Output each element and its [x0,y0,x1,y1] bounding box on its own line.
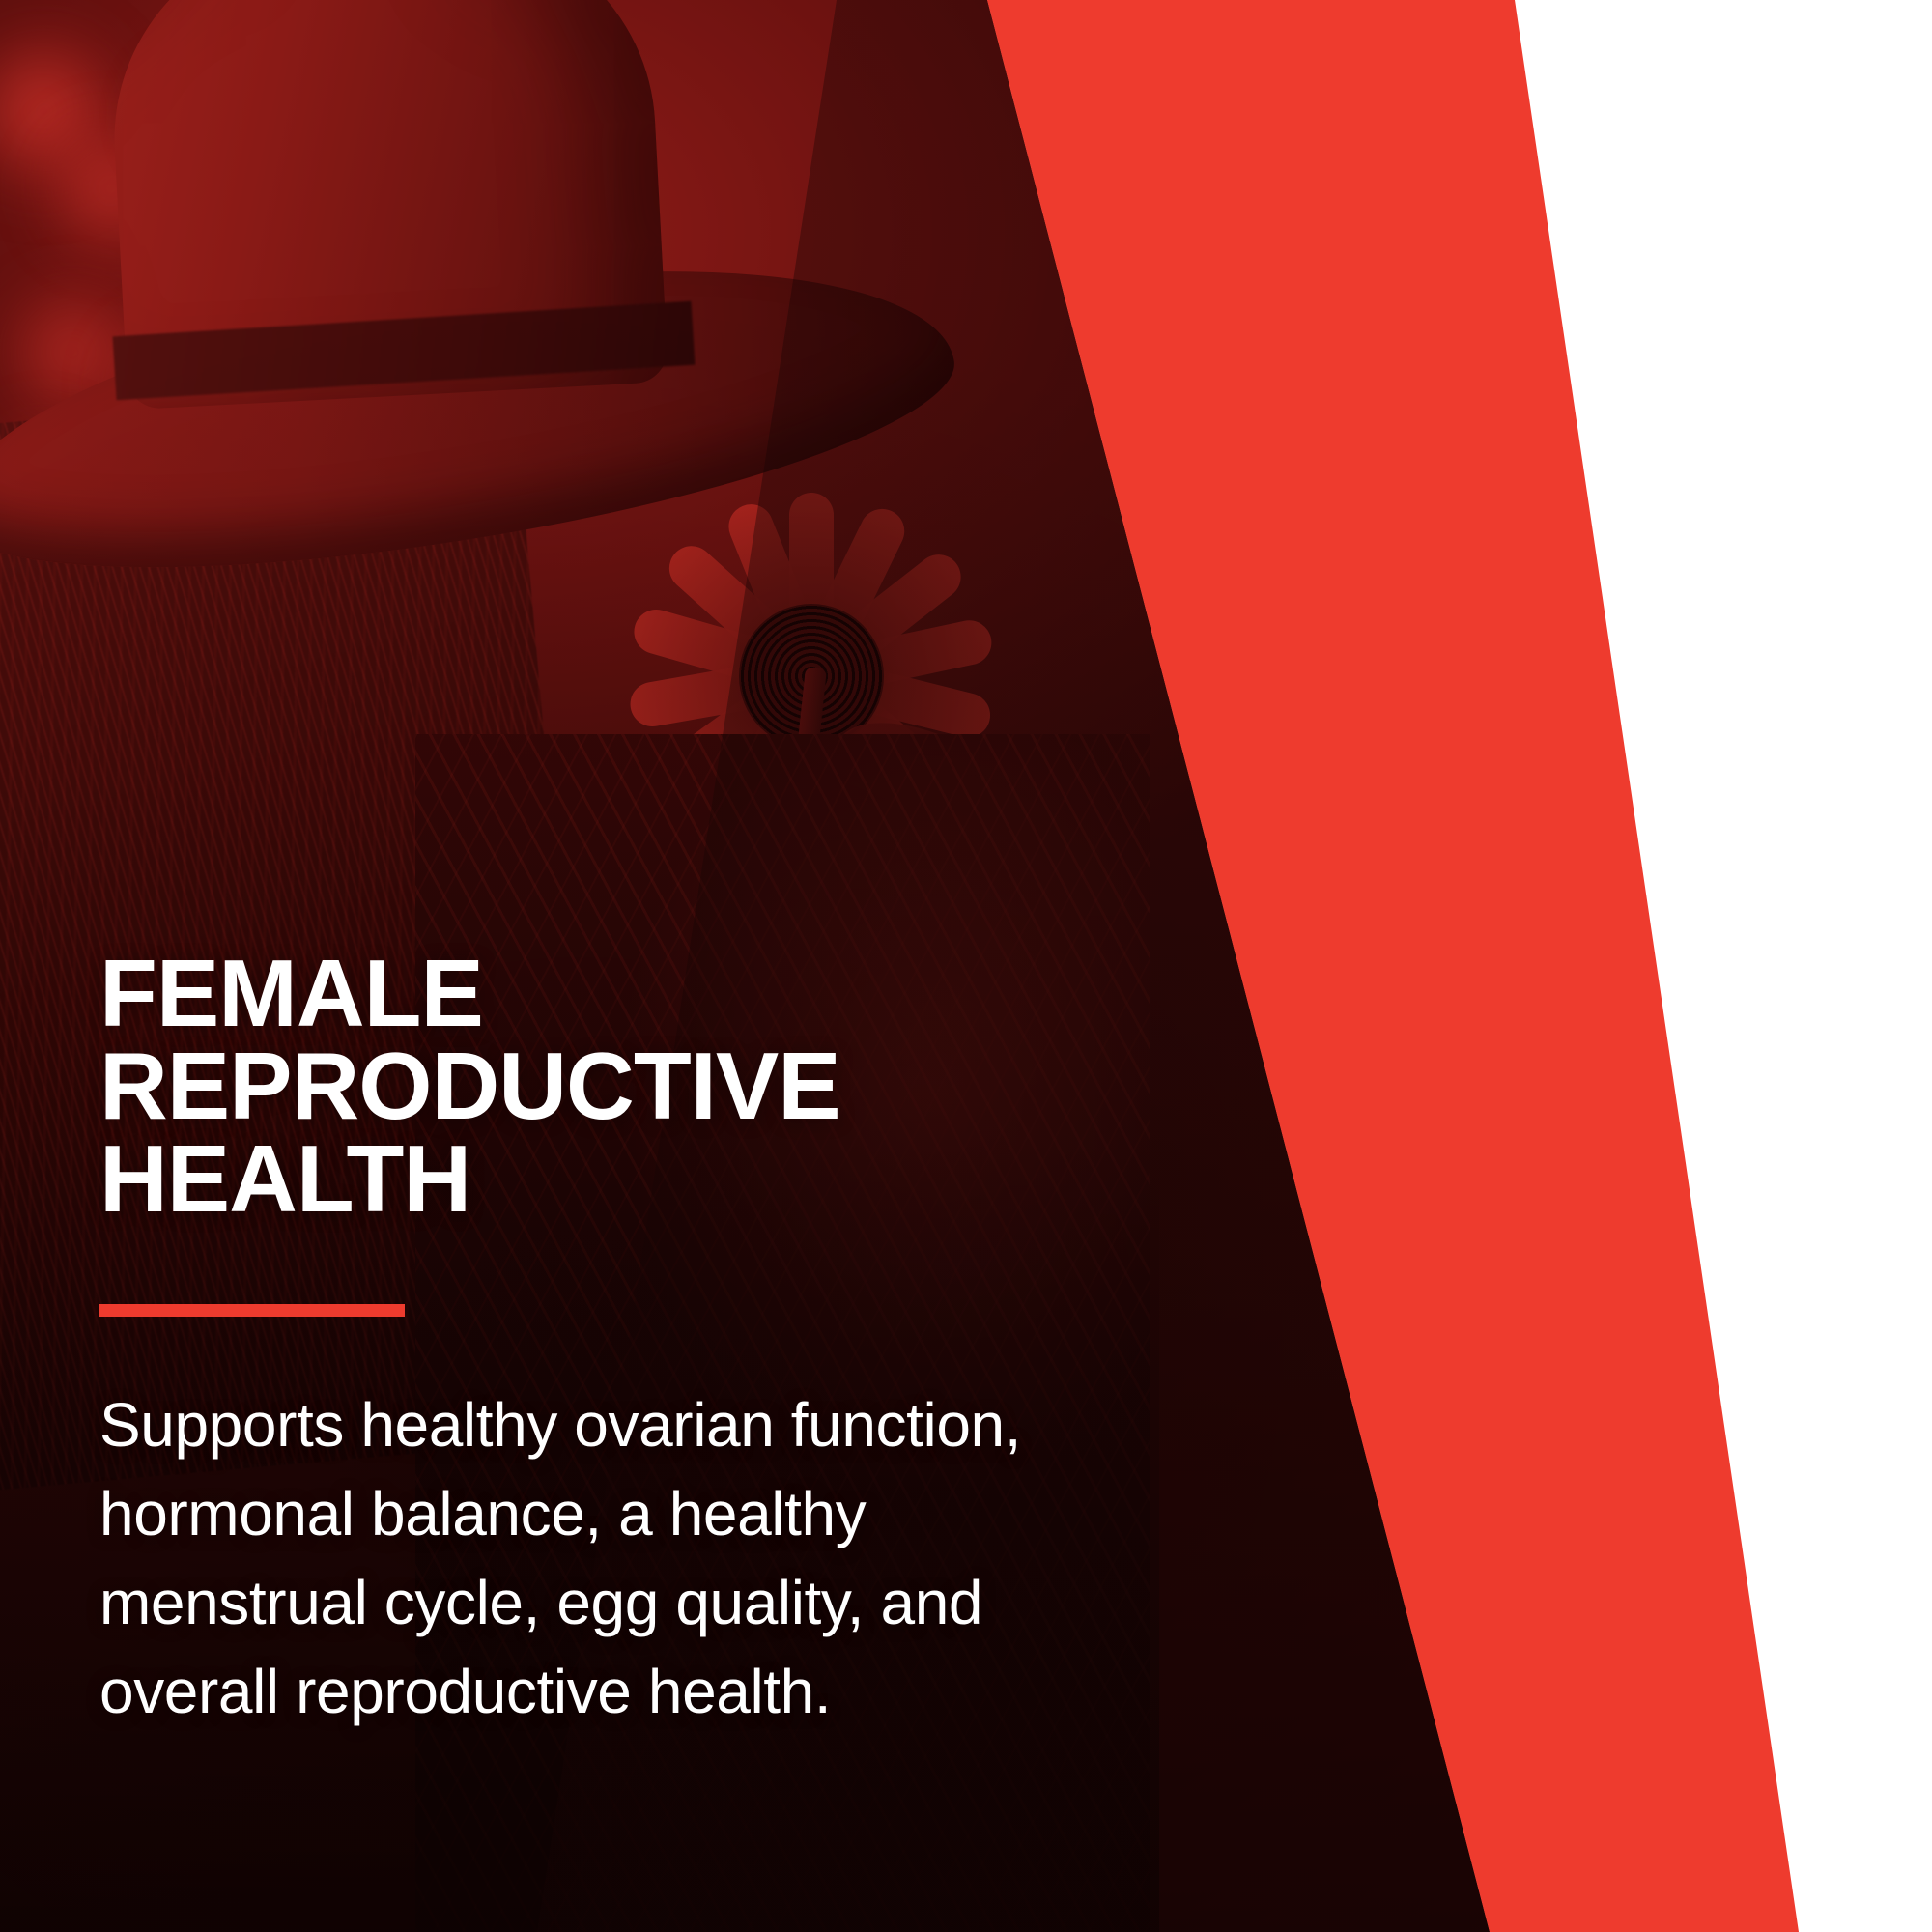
text-content-block: FEMALE REPRODUCTIVE HEALTH Supports heal… [99,947,1123,1736]
title-divider-rule [99,1304,405,1317]
benefit-description: Supports healthy ovarian function, hormo… [99,1380,1094,1736]
product-benefit-banner: FEMALE REPRODUCTIVE HEALTH Supports heal… [0,0,1932,1932]
page-title: FEMALE REPRODUCTIVE HEALTH [99,947,1123,1225]
